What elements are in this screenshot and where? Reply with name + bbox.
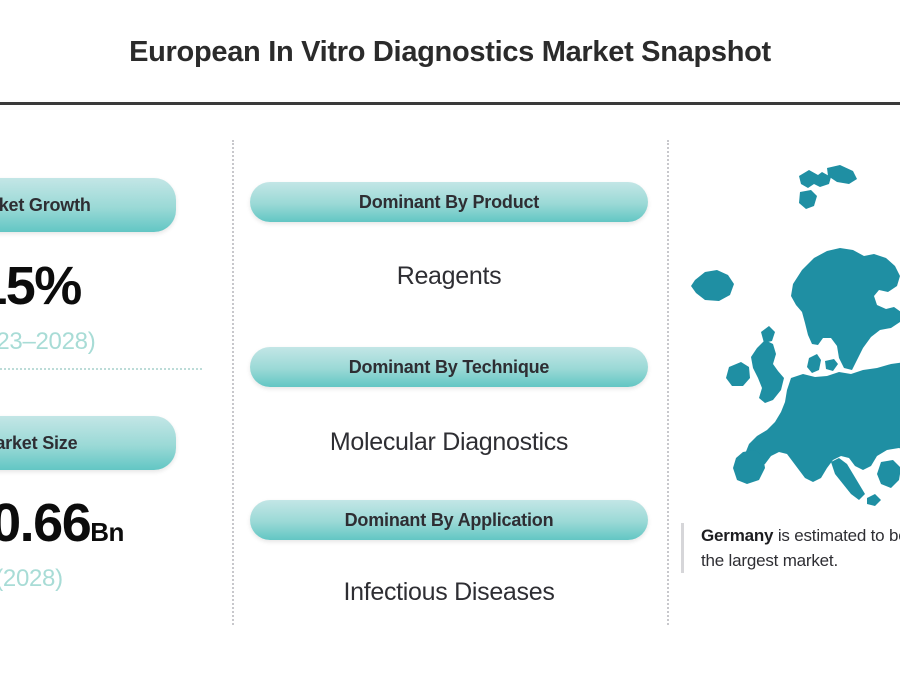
dominant-by-application-label: Dominant By Application [345,510,554,531]
market-growth-pill: Market Growth [0,178,176,232]
left-column: Market Growth 15% (2023–2028) Market Siz… [0,140,230,630]
header: European In Vitro Diagnostics Market Sna… [0,0,900,104]
dominant-by-technique-pill: Dominant By Technique [250,347,648,387]
dominant-by-product-value: Reagents [250,262,648,291]
market-size-period: (2028) [0,565,176,593]
market-size-unit: Bn [90,517,124,547]
europe-map-icon [681,162,900,507]
dominant-by-technique-value: Molecular Diagnostics [250,428,648,457]
dominant-by-product-pill: Dominant By Product [250,182,648,222]
dominant-by-application-pill: Dominant By Application [250,500,648,540]
dominant-by-technique-label: Dominant By Technique [349,357,549,378]
page-title: European In Vitro Diagnostics Market Sna… [129,36,771,69]
map-caption: Germany is estimated to be the largest m… [681,523,900,573]
map-caption-text: Germany is estimated to be the largest m… [701,523,900,573]
column-divider-left [232,140,234,625]
market-growth-label: Market Growth [0,195,91,216]
dominant-by-product-label: Dominant By Product [359,192,539,213]
right-column: Germany is estimated to be the largest m… [667,140,900,630]
dominant-by-application-value: Infectious Diseases [250,578,648,607]
header-divider [0,102,900,105]
market-growth-value: 15% [0,255,176,317]
market-size-amount: $10.66 [0,493,90,553]
market-size-value: $10.66Bn [0,492,176,554]
center-column: Dominant By Product Reagents Dominant By… [250,140,650,630]
infographic-root: European In Vitro Diagnostics Market Sna… [0,0,900,700]
market-size-label: Market Size [0,433,77,454]
left-column-separator [0,368,202,370]
map-caption-country: Germany [701,526,773,545]
market-size-pill: Market Size [0,416,176,470]
market-growth-period: (2023–2028) [0,328,176,356]
